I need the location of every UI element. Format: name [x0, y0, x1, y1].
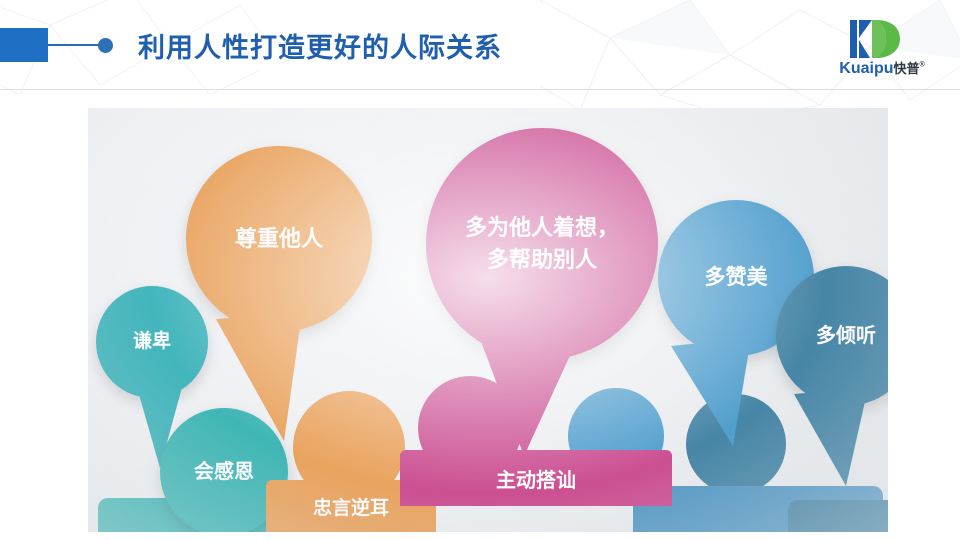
header-accent-dot [98, 38, 113, 53]
slide: 利用人性打造更好的人际关系 Kuaipu快普® [0, 0, 960, 540]
logo-trademark: ® [920, 62, 925, 69]
company-logo: Kuaipu快普® [822, 16, 942, 78]
logo-name-cn: 快普 [894, 61, 920, 76]
bubble-praise-label: 多赞美 [697, 263, 776, 293]
bubble-talk: 主动搭讪 [400, 450, 672, 506]
bubble-respect: 尊重他人 [186, 146, 372, 332]
bubble-listen-label: 多倾听 [808, 322, 884, 351]
bubble-respect-label: 尊重他人 [227, 223, 331, 255]
logo-mark-icon [822, 16, 942, 64]
bubble-gratitude-label: 会感恩 [186, 458, 262, 487]
bubble-think-tail [470, 338, 590, 458]
logo-wordmark: Kuaipu快普® [822, 58, 942, 78]
band-darkblue-right [788, 500, 888, 532]
slide-header: 利用人性打造更好的人际关系 Kuaipu快普® [0, 0, 960, 90]
header-divider [0, 89, 960, 90]
bubble-talk-label: 主动搭讪 [496, 464, 576, 493]
logo-name-en: Kuaipu [839, 60, 893, 77]
page-title: 利用人性打造更好的人际关系 [138, 26, 502, 65]
header-accent-square [0, 28, 48, 62]
bubble-think-label: 多为他人着想， 多帮助别人 [457, 212, 627, 276]
header-accent-line [48, 44, 104, 46]
speech-bubble-diagram: 谦卑 尊重他人 多为他人着想， 多帮助别人 多赞美 多倾听 [88, 108, 888, 532]
bubble-praise-tail [663, 338, 763, 448]
bubble-listen-tail [788, 388, 878, 488]
bubble-humble-label: 谦卑 [125, 328, 179, 356]
bubble-think: 多为他人着想， 多帮助别人 [426, 128, 658, 360]
bubble-advice-label: 忠言逆耳 [313, 493, 389, 520]
